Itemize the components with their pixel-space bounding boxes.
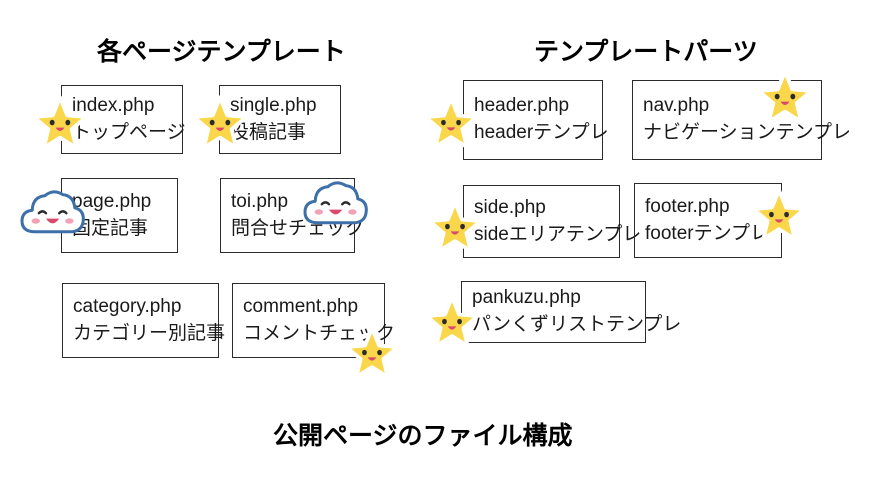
node-header-php[interactable]: header.php headerテンプレ — [463, 80, 603, 160]
node-file-name: pankuzu.php — [472, 285, 645, 312]
node-comment-php[interactable]: comment.php コメントチェック — [232, 283, 385, 358]
node-file-name: toi.php — [231, 189, 354, 216]
node-file-name: header.php — [474, 93, 602, 120]
node-description: パンくずリストテンプレ — [472, 312, 645, 339]
node-nav-php[interactable]: nav.php ナビゲーションテンプレ — [632, 80, 822, 160]
node-description: カテゴリー別記事 — [73, 321, 218, 348]
heading-page-templates: 各ページテンプレート — [97, 40, 346, 65]
node-description: footerテンプレ — [645, 221, 781, 248]
node-description: トップページ — [72, 120, 182, 147]
node-pankuzu-php[interactable]: pankuzu.php パンくずリストテンプレ — [461, 281, 646, 343]
heading-template-parts: テンプレートパーツ — [534, 40, 758, 65]
node-footer-php[interactable]: footer.php footerテンプレ — [634, 183, 782, 258]
node-single-php[interactable]: single.php 投稿記事 — [219, 85, 341, 154]
node-description: 投稿記事 — [230, 120, 340, 147]
node-file-name: footer.php — [645, 194, 781, 221]
node-description: headerテンプレ — [474, 120, 602, 147]
node-side-php[interactable]: side.php sideエリアテンプレ — [463, 185, 620, 258]
node-description: 固定記事 — [72, 216, 177, 243]
diagram-canvas: 各ページテンプレート テンプレートパーツ index.php トップページ si… — [0, 0, 874, 492]
node-description: コメントチェック — [243, 321, 384, 348]
node-file-name: page.php — [72, 189, 177, 216]
node-file-name: category.php — [73, 294, 218, 321]
node-file-name: single.php — [230, 93, 340, 120]
node-toi-php[interactable]: toi.php 問合せチェック — [220, 178, 355, 253]
node-file-name: nav.php — [643, 93, 821, 120]
node-file-name: comment.php — [243, 294, 384, 321]
node-description: ナビゲーションテンプレ — [643, 120, 821, 147]
node-index-php[interactable]: index.php トップページ — [61, 85, 183, 154]
node-category-php[interactable]: category.php カテゴリー別記事 — [62, 283, 219, 358]
node-file-name: index.php — [72, 93, 182, 120]
node-page-php[interactable]: page.php 固定記事 — [61, 178, 178, 253]
node-file-name: side.php — [474, 195, 619, 222]
node-description: sideエリアテンプレ — [474, 222, 619, 249]
diagram-caption: 公開ページのファイル構成 — [273, 424, 573, 449]
node-description: 問合せチェック — [231, 216, 354, 243]
